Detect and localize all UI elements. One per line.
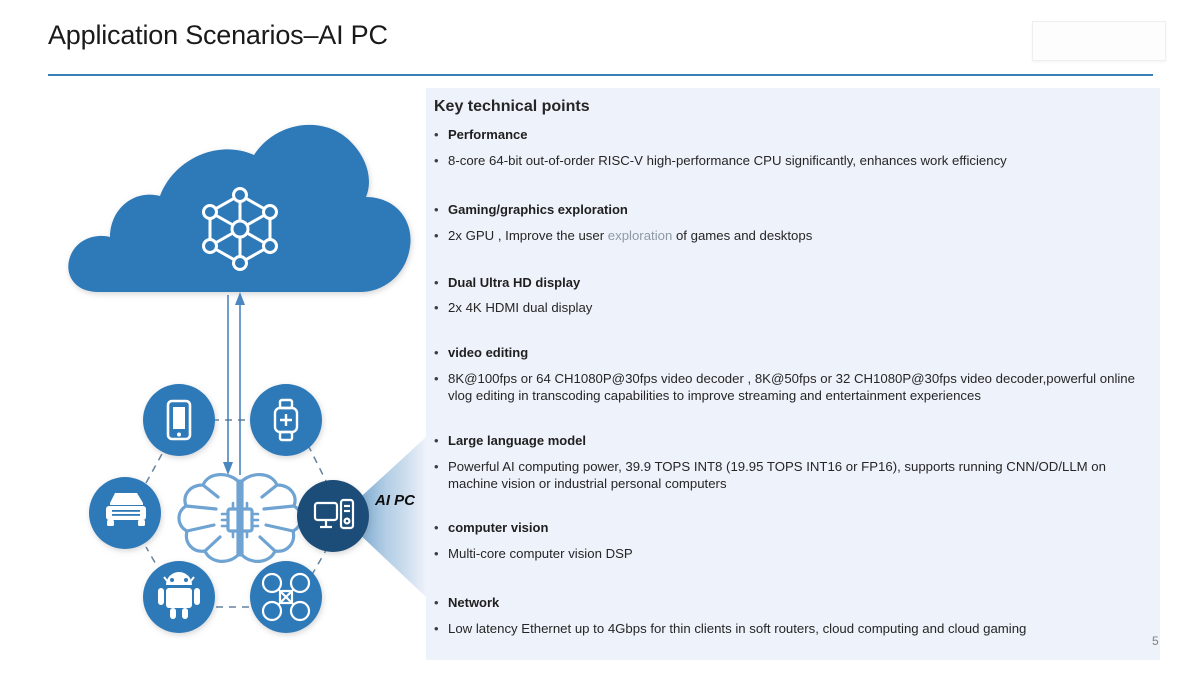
bullet-cv-head: • computer vision	[434, 519, 1146, 536]
bullet-glyph: •	[434, 201, 448, 218]
bullet-glyph: •	[434, 432, 448, 449]
logo-placeholder	[1032, 21, 1166, 61]
bullet-label: Performance	[448, 126, 1146, 143]
panel-heading: Key technical points	[434, 98, 590, 116]
bullet-llm-body: • Powerful AI computing power, 39.9 TOPS…	[434, 458, 1146, 492]
bullet-glyph: •	[434, 519, 448, 536]
bullet-video-head: • video editing	[434, 344, 1146, 361]
ai-pc-ecosystem-diagram: AI PC	[40, 85, 440, 645]
bullet-display-body: • 2x 4K HDMI dual display	[434, 299, 1146, 316]
bullet-body: 2x GPU , Improve the user exploration of…	[448, 227, 1146, 244]
bullet-gaming-head: • Gaming/graphics exploration	[434, 201, 1146, 218]
bullet-body-post: of games and desktops	[672, 228, 812, 243]
bullet-body: 8K@100fps or 64 CH1080P@30fps video deco…	[448, 370, 1146, 404]
title-divider	[48, 74, 1153, 76]
bullet-label: video editing	[448, 344, 1146, 361]
bullet-glyph: •	[434, 594, 448, 611]
bullet-label: Network	[448, 594, 1146, 611]
bullet-glyph: •	[434, 227, 448, 244]
bullet-label: Gaming/graphics exploration	[448, 201, 1146, 218]
bullet-cv-body: • Multi-core computer vision DSP	[434, 545, 1146, 562]
uplink-arrow	[235, 292, 245, 475]
bullet-gaming-body: • 2x GPU , Improve the user exploration …	[434, 227, 1146, 244]
bullet-performance-body: • 8-core 64-bit out-of-order RISC-V high…	[434, 152, 1146, 169]
page-title: Application Scenarios–AI PC	[48, 20, 388, 51]
bullet-glyph: •	[434, 126, 448, 143]
bullet-body-muted: exploration	[608, 228, 673, 243]
bullet-body: 2x 4K HDMI dual display	[448, 299, 1146, 316]
bullet-glyph: •	[434, 299, 448, 316]
bullet-body: Powerful AI computing power, 39.9 TOPS I…	[448, 458, 1146, 492]
page-number: 5	[1152, 634, 1159, 648]
bullet-glyph: •	[434, 152, 448, 169]
bullet-body: Low latency Ethernet up to 4Gbps for thi…	[448, 620, 1146, 637]
bullet-glyph: •	[434, 458, 448, 475]
bullet-network-body: • Low latency Ethernet up to 4Gbps for t…	[434, 620, 1146, 637]
bullet-performance-head: • Performance	[434, 126, 1146, 143]
bullet-label: Dual Ultra HD display	[448, 274, 1146, 291]
downlink-arrow	[223, 295, 233, 475]
bullet-glyph: •	[434, 344, 448, 361]
brain-chip-icon	[179, 475, 301, 562]
bullet-body: 8-core 64-bit out-of-order RISC-V high-p…	[448, 152, 1146, 169]
bullet-glyph: •	[434, 274, 448, 291]
key-technical-points-panel: Key technical points • Performance • 8-c…	[426, 88, 1160, 660]
bullet-glyph: •	[434, 620, 448, 637]
bullet-video-body: • 8K@100fps or 64 CH1080P@30fps video de…	[434, 370, 1146, 404]
node-ai-pc	[297, 480, 369, 552]
bullet-display-head: • Dual Ultra HD display	[434, 274, 1146, 291]
bullet-body: Multi-core computer vision DSP	[448, 545, 1146, 562]
bullet-llm-head: • Large language model	[434, 432, 1146, 449]
bullet-body-pre: 2x GPU , Improve the user	[448, 228, 608, 243]
ai-pc-label: AI PC	[375, 492, 415, 509]
slide-root: Application Scenarios–AI PC	[0, 0, 1200, 675]
diagram-svg	[40, 85, 440, 645]
bullet-glyph: •	[434, 370, 448, 387]
bullet-glyph: •	[434, 545, 448, 562]
bullet-network-head: • Network	[434, 594, 1146, 611]
bullet-label: computer vision	[448, 519, 1146, 536]
bullet-label: Large language model	[448, 432, 1146, 449]
